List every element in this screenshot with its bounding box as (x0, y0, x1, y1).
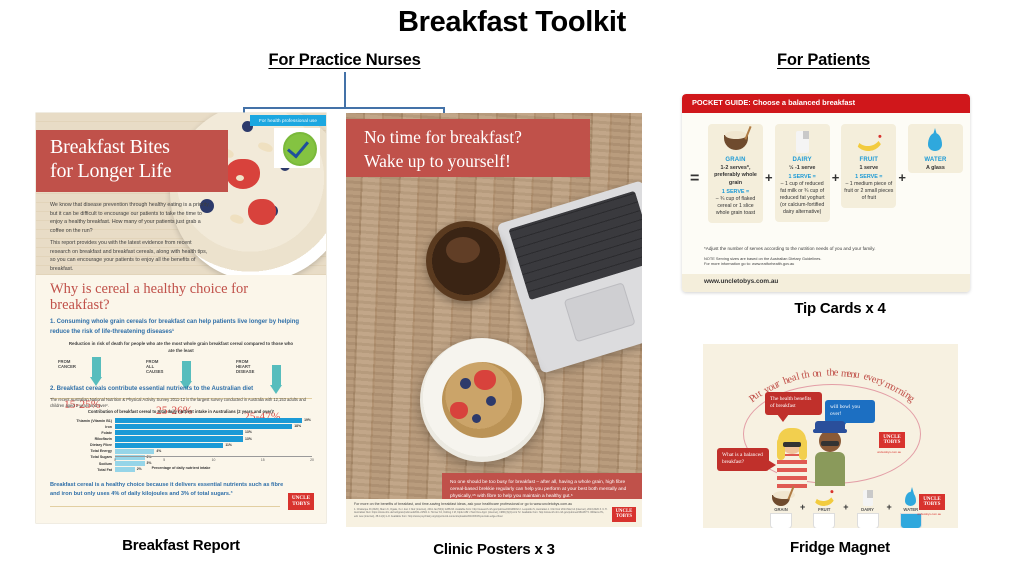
section-heading-patients: For Patients (722, 51, 925, 70)
chart-bar (115, 443, 223, 448)
chart-bar-track: 19% (115, 418, 312, 423)
report-divider-2 (50, 506, 280, 507)
banana-icon (844, 129, 893, 155)
food-group-detail: – ¾ cup of flaked cereal or 1 slice whol… (711, 196, 760, 217)
chart-bar-row: Dietary Fibre11% (50, 443, 312, 448)
connector-horizontal (243, 107, 445, 109)
chart-bar-track: 18% (115, 424, 312, 429)
chart-tick-label: 20 (310, 458, 314, 462)
chart-tick-label: 10 (212, 458, 216, 462)
section-heading-practice-nurses: For Practice Nurses (243, 51, 446, 70)
food-group-serve: A glass (911, 165, 960, 172)
risk-arrow-label: FROM HEART DISEASE (236, 359, 254, 375)
milk-carton-icon (778, 129, 827, 155)
uncle-tobys-logo: UNCLE TOBYS (879, 432, 905, 448)
water-drop-icon (911, 129, 960, 155)
report-point-1: 1. Consuming whole grain cereals for bre… (50, 318, 312, 337)
chart-bar (115, 430, 243, 435)
chart-bar-row: Riboflavin13% (50, 436, 312, 441)
breakfast-report-thumbnail[interactable]: For health professional use Breakfast Bi… (36, 113, 326, 523)
tip-card-footnote: *Adjust the number of serves according t… (704, 246, 956, 251)
risk-arrow-all-causes: FROM ALL CAUSES 25-26% (146, 359, 163, 375)
one-serve-label: 1 SERVE = (711, 189, 760, 195)
food-group-name: GRAIN (711, 157, 760, 163)
caption-breakfast-report: Breakfast Report (36, 537, 326, 554)
magnet-brand-url: uncletobys.com.au (877, 450, 901, 454)
chart-bar-row: Total Energy4% (50, 449, 312, 454)
chart-category-label: Iron (50, 425, 115, 429)
poster-title-line2: Wake up to yourself! (364, 151, 511, 172)
pocket-guide-header: POCKET GUIDE: Choose a balanced breakfas… (682, 94, 970, 113)
tip-card-url[interactable]: www.uncletobys.com.au (704, 278, 778, 285)
risk-arrow-heart-disease: FROM HEART DISEASE 25-47% (236, 359, 254, 375)
report-point-1-subtitle: Reduction in risk of death for people wh… (66, 341, 296, 354)
food-group-name: WATER (911, 157, 960, 163)
serve-cup-icon (857, 513, 879, 528)
magnet-item-dairy: DAIRY ½ - 1 serve (852, 488, 884, 528)
one-serve-label: 1 SERVE = (844, 174, 893, 180)
chart-bar-track: 13% (115, 436, 312, 441)
chart-category-label: Riboflavin (50, 437, 115, 441)
report-intro-paragraph-1: We know that disease prevention through … (50, 201, 210, 235)
poster-footer-band: For more on the benefits of breakfast, a… (346, 499, 642, 527)
food-group-grain: GRAIN 1-2 serves*, preferably whole grai… (708, 124, 763, 223)
chart-category-label: Dietary Fibre (50, 443, 115, 447)
speech-bubble-balanced-breakfast: What is a balanced breakfast? (717, 448, 769, 471)
milk-carton-icon (852, 488, 884, 506)
banana-icon (808, 488, 840, 506)
coffee-cup-photo (426, 221, 506, 301)
magnet-brand-url-secondary: uncletobys.com.au (917, 512, 941, 516)
muesli-bowl-photo (420, 338, 544, 462)
chart-category-label: Sodium (50, 462, 115, 466)
food-group-detail: – 1 medium piece of fruit or 2 small pie… (844, 181, 893, 202)
report-title-line2: for Longer Life (50, 160, 171, 183)
page-title: Breakfast Toolkit (0, 6, 1024, 39)
chart-bar-value: 4% (156, 449, 161, 453)
heart-foundation-tick-icon (274, 128, 320, 168)
speech-bubble-bowl-you-over: will bowl you over! (825, 400, 875, 423)
tip-card-thumbnail[interactable]: POCKET GUIDE: Choose a balanced breakfas… (682, 94, 970, 292)
slide-canvas: Breakfast Toolkit For Practice Nurses Fo… (0, 0, 1024, 576)
tip-card-url-band: www.uncletobys.com.au (682, 274, 970, 292)
chart-category-label: Total Sugars (50, 455, 115, 459)
poster-footer-text: For more on the benefits of breakfast, a… (354, 502, 572, 506)
plus-symbol-3: + (898, 170, 906, 185)
logo-line2: TOBYS (292, 502, 310, 507)
logo-line2: TOBYS (924, 502, 941, 507)
plus-symbol-2: + (843, 502, 848, 512)
food-group-detail: – 1 cup of reduced fat milk or ¾ cup of … (778, 181, 827, 216)
food-group-water: WATER A glass (908, 124, 963, 173)
food-group-fruit: FRUIT 1 serve 1 SERVE = – 1 medium piece… (841, 124, 896, 208)
cereal-bowl-icon (711, 129, 760, 155)
caption-tip-cards: Tip Cards x 4 (700, 300, 980, 317)
chart-tick-label: 5 (163, 458, 165, 462)
chart-bar-value: 13% (245, 437, 252, 441)
magnet-item-grain: GRAIN 1-2 serves, preferably whole grain (765, 488, 797, 528)
risk-arrow-label: FROM CANCER (58, 359, 76, 369)
plus-symbol-3: + (887, 502, 892, 512)
for-health-professional-use-tag: For health professional use (250, 115, 326, 126)
chart-x-axis-label: Percentage of daily nutrient intake (50, 466, 312, 470)
magnet-item-name: DAIRY (852, 507, 884, 512)
uncle-tobys-logo: UNCLE TOBYS (288, 493, 314, 510)
chart-bar-row: Folate13% (50, 430, 312, 435)
report-footer-statement: Breakfast cereal is a healthy choice bec… (50, 481, 290, 498)
chart-bar-value: 13% (245, 430, 252, 434)
nutrient-contribution-bar-chart: Contribution of breakfast cereal to tota… (50, 409, 312, 475)
poster-body-1: No one should be too busy for breakfast … (450, 479, 634, 501)
chart-bar (115, 449, 154, 454)
chart-bar-track: 4% (115, 449, 312, 454)
magnet-arc-letter: n (816, 368, 822, 379)
chart-tick-label: 0 (114, 458, 116, 462)
chart-bar-track: 11% (115, 443, 312, 448)
illustrated-person-man (819, 430, 845, 486)
chart-category-label: Thiamin (Vitamin B1) (50, 419, 115, 423)
illustrated-person-woman (781, 432, 807, 488)
plus-symbol-1: + (765, 170, 773, 185)
report-point-2: 2. Breakfast cereals contribute essentia… (50, 385, 318, 394)
report-intro-paragraph-2: This report provides you with the latest… (50, 239, 210, 273)
serve-cup-icon (813, 513, 835, 528)
poster-title-line1: No time for breakfast? (364, 127, 522, 148)
uncle-tobys-logo: UNCLE TOBYS (612, 507, 636, 522)
food-group-name: FRUIT (844, 157, 893, 163)
food-group-name: DAIRY (778, 157, 827, 163)
chart-bar-row: Iron18% (50, 424, 312, 429)
food-group-dairy: DAIRY ½ -1 serve 1 SERVE = – 1 cup of re… (775, 124, 830, 222)
speech-bubble-health-benefits: The health benefits of breakfast (765, 392, 822, 415)
chart-tick-label: 15 (261, 458, 265, 462)
food-group-columns: GRAIN 1-2 serves*, preferably whole grai… (708, 124, 963, 223)
chart-bar-value: 11% (225, 443, 232, 447)
food-group-serve: 1 serve (844, 165, 893, 172)
report-point-2-subtitle: The recent Australian National Nutrition… (50, 397, 318, 409)
magnet-item-name: GRAIN (765, 507, 797, 512)
clinic-poster-thumbnail[interactable]: No time for breakfast? Wake up to yourse… (346, 113, 642, 527)
risk-arrow-cancer: FROM CANCER 15-25% (58, 359, 76, 369)
logo-line2: TOBYS (884, 440, 901, 445)
cereal-bowl-icon (765, 488, 797, 506)
risk-arrow-label: FROM ALL CAUSES (146, 359, 163, 375)
tip-card-note: NOTE Serving sizes are based on the Aust… (704, 256, 956, 267)
food-group-serve: ½ -1 serve (778, 165, 827, 172)
chart-bar (115, 418, 302, 423)
serve-cup-icon (770, 513, 792, 528)
food-group-serve: 1-2 serves*, preferably whole grain (711, 165, 760, 187)
chart-bar-track: 13% (115, 430, 312, 435)
uncle-tobys-logo-secondary: UNCLE TOBYS (919, 494, 945, 510)
caption-clinic-posters: Clinic Posters x 3 (346, 541, 642, 558)
plus-symbol-1: + (800, 502, 805, 512)
plus-symbol-2: + (832, 170, 840, 185)
magnet-item-name: FRUIT (808, 507, 840, 512)
one-serve-label: 1 SERVE = (778, 174, 827, 180)
chart-bar-row: Thiamin (Vitamin B1)19% (50, 418, 312, 423)
chart-bar (115, 424, 292, 429)
logo-line2: TOBYS (616, 515, 632, 520)
report-question-heading: Why is cereal a healthy choice for break… (50, 281, 250, 313)
connector-vertical-top (344, 72, 346, 108)
caption-fridge-magnet: Fridge Magnet (700, 539, 980, 556)
chart-bar-value: 19% (304, 418, 311, 422)
chart-category-label: Total Energy (50, 449, 115, 453)
magnet-food-group-row: GRAIN 1-2 serves, preferably whole grain… (765, 488, 945, 528)
poster-references: 1. Chatterjee R (2020), Mann K, Ogata, X… (354, 508, 608, 518)
chart-x-ticks: 05101520 (115, 458, 312, 466)
poster-title-box: No time for breakfast? Wake up to yourse… (346, 119, 590, 177)
magnet-item-fruit: FRUIT 1 serve (808, 488, 840, 528)
magnet-arc-letter (822, 368, 825, 379)
chart-title: Contribution of breakfast cereal to tota… (50, 409, 312, 414)
report-title-line1: Breakfast Bites (50, 136, 170, 159)
fridge-magnet-thumbnail[interactable]: Put your health on the menu every mornin… (703, 344, 958, 528)
chart-bar (115, 436, 243, 441)
chart-category-label: Folate (50, 431, 115, 435)
report-title-box: Breakfast Bites for Longer Life (36, 130, 228, 192)
pocket-guide-header-text: POCKET GUIDE: Choose a balanced breakfas… (692, 98, 855, 107)
chart-bar-value: 18% (294, 424, 301, 428)
equals-symbol: = (690, 170, 699, 188)
